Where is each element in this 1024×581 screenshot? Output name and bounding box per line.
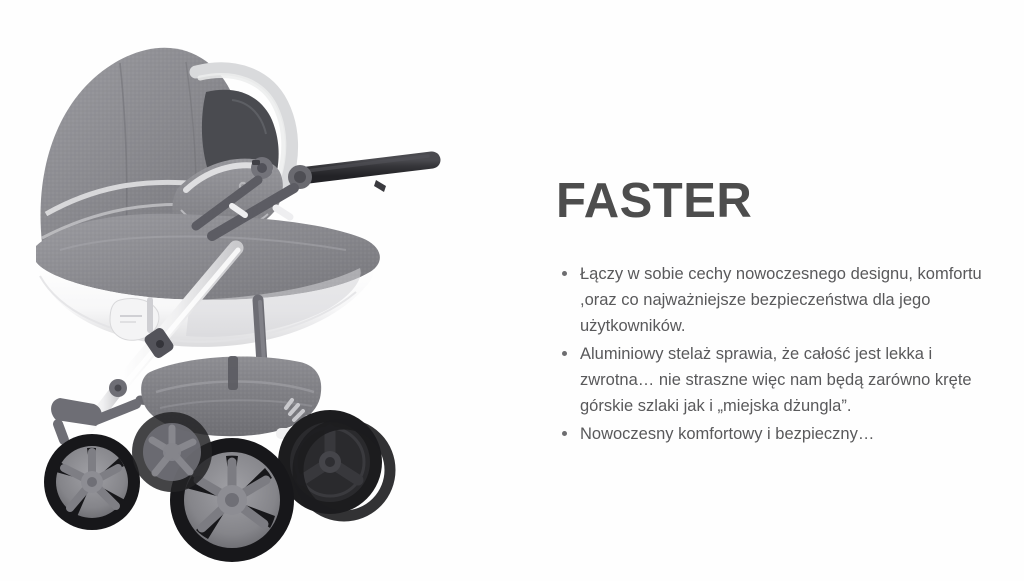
list-item: Aluminiowy stelaż sprawia, że całość jes… bbox=[556, 341, 1008, 419]
page-title: FASTER bbox=[556, 176, 1008, 227]
feature-text: Nowoczesny komfortowy i bezpieczny… bbox=[580, 425, 874, 443]
product-copy: FASTER Łączy w sobie cechy nowoczesnego … bbox=[556, 176, 1008, 449]
front-swivel-wheel-inner bbox=[132, 412, 212, 492]
bullet-icon bbox=[562, 431, 567, 436]
feature-list: Łączy w sobie cechy nowoczesnego designu… bbox=[556, 261, 1008, 447]
product-banner: FASTER Łączy w sobie cechy nowoczesnego … bbox=[0, 0, 1024, 581]
list-item: Nowoczesny komfortowy i bezpieczny… bbox=[556, 421, 1008, 447]
bullet-icon bbox=[562, 271, 567, 276]
stroller-illustration bbox=[0, 0, 500, 581]
bullet-icon bbox=[562, 351, 567, 356]
product-image bbox=[0, 0, 500, 581]
front-swivel-wheel bbox=[44, 398, 140, 530]
feature-text: Aluminiowy stelaż sprawia, że całość jes… bbox=[580, 345, 972, 415]
feature-text: Łączy w sobie cechy nowoczesnego designu… bbox=[580, 265, 982, 335]
list-item: Łączy w sobie cechy nowoczesnego designu… bbox=[556, 261, 1008, 339]
